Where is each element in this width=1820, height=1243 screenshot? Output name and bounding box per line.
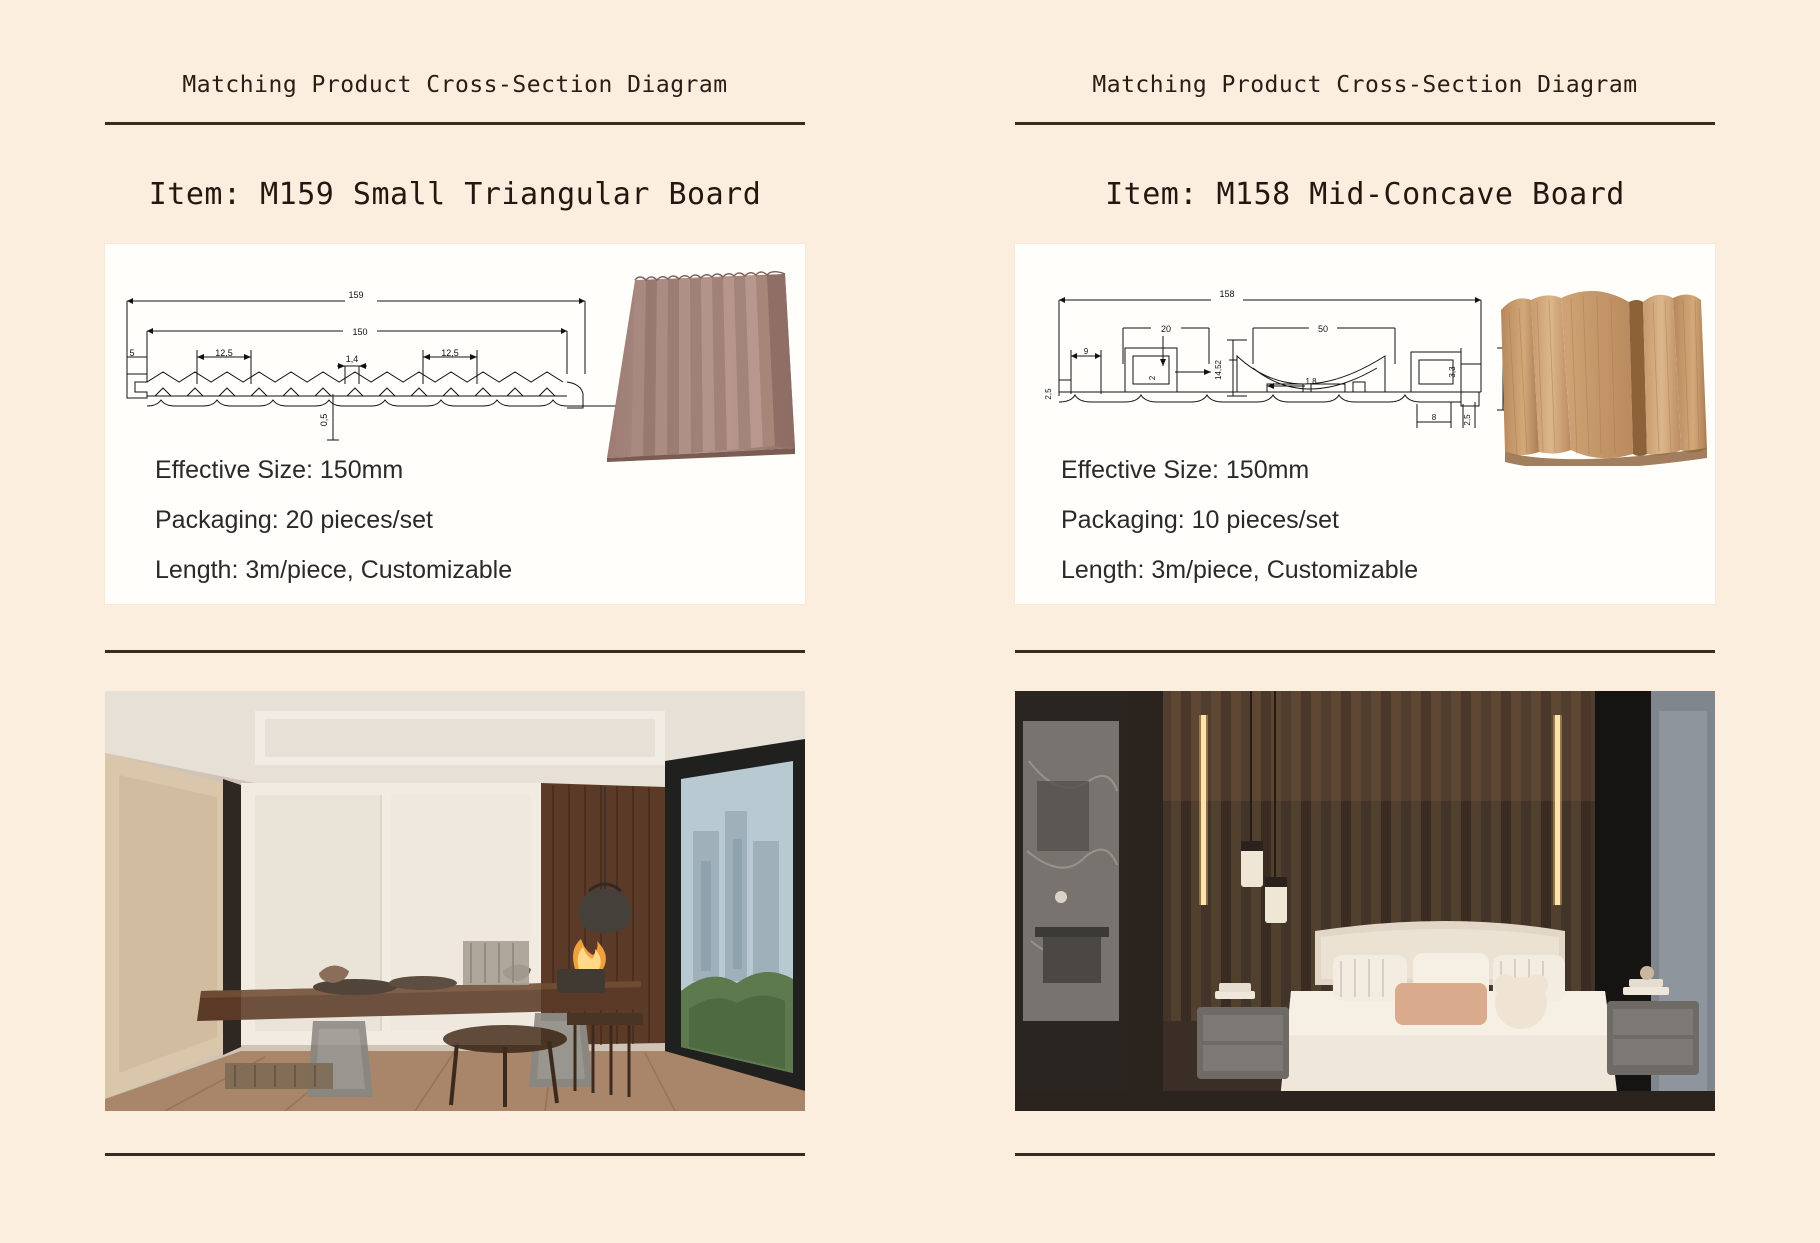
page-title: Item: M159 Small Triangular Board xyxy=(0,177,910,212)
spec-list-m159: Effective Size: 150mm Packaging: 20 piec… xyxy=(155,456,512,604)
header-divider xyxy=(1015,122,1715,125)
dim-158: 158 xyxy=(1219,289,1234,299)
dim-5: 5 xyxy=(129,348,134,358)
tea-room-interior xyxy=(105,691,805,1111)
dim-20: 20 xyxy=(1161,324,1171,334)
dim-8: 8 xyxy=(1432,413,1437,422)
spec-effective-size: Effective Size: 150mm xyxy=(155,456,512,485)
dim-2-vertical: 2 xyxy=(1148,375,1157,380)
product-panel-m158: Matching Product Cross-Section Diagram I… xyxy=(910,0,1820,1243)
dim-150: 150 xyxy=(352,327,367,337)
footer-divider xyxy=(105,1153,805,1156)
spec-effective-size: Effective Size: 150mm xyxy=(1061,456,1418,485)
product-panel-m159: Matching Product Cross-Section Diagram I… xyxy=(0,0,910,1243)
spec-packaging: Packaging: 10 pieces/set xyxy=(1061,506,1418,535)
spec-length: Length: 3m/piece, Customizable xyxy=(155,556,512,585)
card-photo-divider xyxy=(1015,650,1715,653)
dim-3-3: 3,3 xyxy=(1448,366,1457,378)
dim-2-5-left: 2,5 xyxy=(1044,388,1053,400)
dim-14-52: 14,52 xyxy=(1214,359,1223,380)
dim-50: 50 xyxy=(1318,324,1328,334)
header-divider xyxy=(105,122,805,125)
dim-0-5: 0,5 xyxy=(319,414,329,427)
page-title: Item: M158 Mid-Concave Board xyxy=(910,177,1820,212)
bedroom-interior xyxy=(1015,691,1715,1111)
product-detail-card: 159 150 5 12,5 1,4 12,5 0,5 xyxy=(105,244,805,604)
spec-length: Length: 3m/piece, Customizable xyxy=(1061,556,1418,585)
panel-header-title: Matching Product Cross-Section Diagram xyxy=(910,0,1820,98)
panel-header-title: Matching Product Cross-Section Diagram xyxy=(0,0,910,98)
m159-board-render xyxy=(589,262,799,462)
dim-159: 159 xyxy=(348,290,363,300)
catalog-page: Matching Product Cross-Section Diagram I… xyxy=(0,0,1820,1243)
spec-list-m158: Effective Size: 150mm Packaging: 10 piec… xyxy=(1061,456,1418,604)
dim-2-5-right: 2,5 xyxy=(1463,414,1472,426)
dim-1-4: 1,4 xyxy=(346,354,359,364)
m158-board-render xyxy=(1491,266,1713,466)
spec-packaging: Packaging: 20 pieces/set xyxy=(155,506,512,535)
product-detail-card: 158 20 50 9 2 14,52 1,8 3,3 19 8 2,5 2,5 xyxy=(1015,244,1715,604)
dim-9: 9 xyxy=(1084,347,1089,356)
dim-12-5-right: 12,5 xyxy=(441,348,459,358)
footer-divider xyxy=(1015,1153,1715,1156)
card-photo-divider xyxy=(105,650,805,653)
dim-12-5-left: 12,5 xyxy=(215,348,233,358)
dim-1-8: 1,8 xyxy=(1305,377,1317,386)
